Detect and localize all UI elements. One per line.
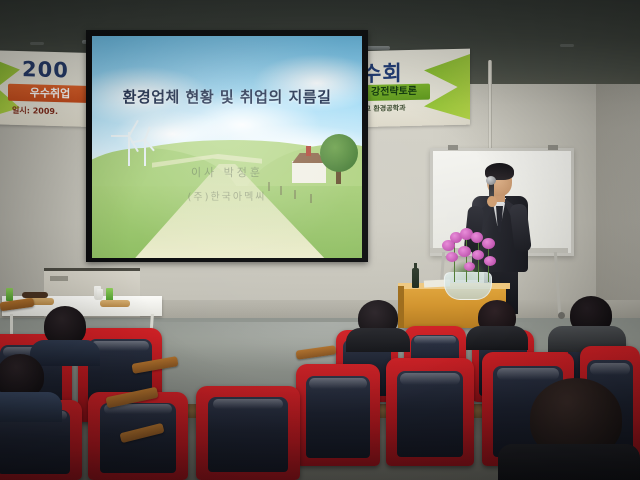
audience-shoulders xyxy=(466,326,528,350)
podium-side xyxy=(398,286,404,328)
whiteboard-wheel-right xyxy=(558,312,565,319)
whiteboard-clip-right xyxy=(548,145,558,150)
seat[interactable] xyxy=(296,364,380,466)
drink-can xyxy=(6,288,13,301)
banner-right-chip-label: 강전략토론 xyxy=(358,84,430,102)
whiteboard-clip-left xyxy=(448,145,458,150)
microphone-head-icon xyxy=(486,176,496,185)
snack-tray-dark xyxy=(22,292,48,298)
audience-shoulders xyxy=(346,328,410,352)
speaker-hand xyxy=(487,196,497,207)
banner-left-date: 일시: 2009. xyxy=(12,105,58,117)
banner-left-chip-label: 우수취업 xyxy=(8,84,92,103)
banner-right-chip: 강전략토론 xyxy=(358,84,430,102)
banner-swoosh-icon-right xyxy=(424,50,470,123)
slide-chimney xyxy=(306,146,311,156)
snack-tray-2 xyxy=(100,300,130,307)
banner-left-year: 200 xyxy=(22,57,69,82)
orchid-arrangement xyxy=(438,226,500,276)
bottle xyxy=(412,268,419,288)
audience-shoulders xyxy=(30,340,100,366)
bottle-neck xyxy=(414,263,417,270)
slide-presenter-line: 이사 박정훈 xyxy=(92,164,362,180)
slide-company-line: (주)한국아멕씨 xyxy=(92,188,362,203)
audience-shoulders xyxy=(0,392,62,422)
banner-right: 수회 강전략토론 학교 환경공학과 xyxy=(352,49,470,128)
seat[interactable] xyxy=(196,386,300,480)
banner-left-chip: 우수취업 xyxy=(8,84,92,103)
projection-screen: 환경업체 현황 및 취업의 지름길 이사 박정훈 (주)한국아멕씨 xyxy=(92,36,362,258)
slide-title: 환경업체 현황 및 취업의 지름길 xyxy=(92,86,362,107)
lecture-hall-photo: 200 우수취업 일시: 2009. 수회 강전략토론 학교 환경공학과 xyxy=(0,0,640,480)
paper-cup-2 xyxy=(97,289,103,300)
flower-vase xyxy=(444,272,492,300)
